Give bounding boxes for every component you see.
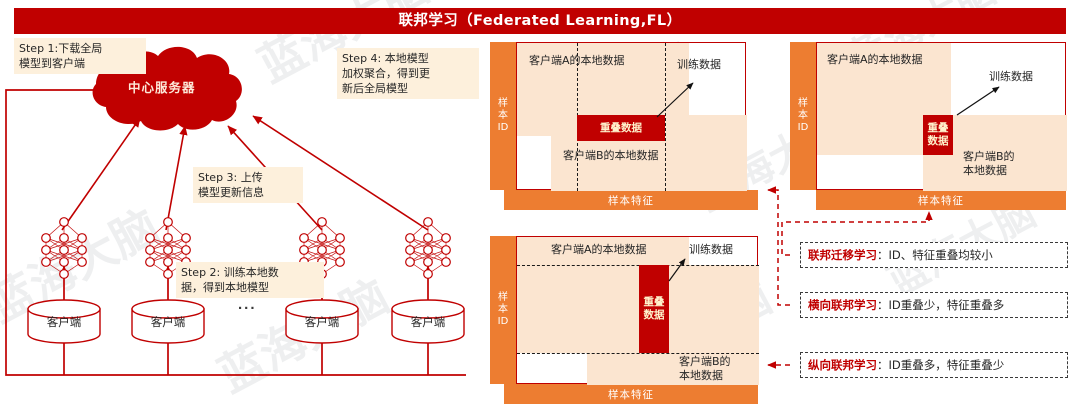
- connector-vertical-fl: [768, 190, 790, 305]
- legend-value: ID重叠少，特征重叠多: [889, 297, 1005, 313]
- slide-root: 蓝海大脑 蓝海大脑 蓝海大脑 蓝海大脑 蓝海大脑 蓝海大脑 蓝海大脑 蓝海大脑 …: [0, 0, 1080, 412]
- legend-vertical-fl[interactable]: 纵向联邦学习 ： ID重叠多，特征重叠少: [800, 352, 1068, 378]
- legend-value: ID重叠多，特征重叠少: [889, 357, 1005, 373]
- legend-key: 纵向联邦学习: [808, 357, 877, 373]
- legend-value: ID、特征重叠均较小: [889, 247, 993, 263]
- legend-horizontal-fl[interactable]: 横向联邦学习 ： ID重叠少，特征重叠多: [800, 292, 1068, 318]
- legend-key: 联邦迁移学习: [808, 247, 877, 263]
- legend-federated-transfer[interactable]: 联邦迁移学习 ： ID、特征重叠均较小: [800, 242, 1068, 268]
- legend-key: 横向联邦学习: [808, 297, 877, 313]
- legend-connectors: [0, 0, 1080, 412]
- legend-sep: ：: [877, 297, 889, 313]
- legend-sep: ：: [877, 357, 889, 373]
- legend-sep: ：: [877, 247, 889, 263]
